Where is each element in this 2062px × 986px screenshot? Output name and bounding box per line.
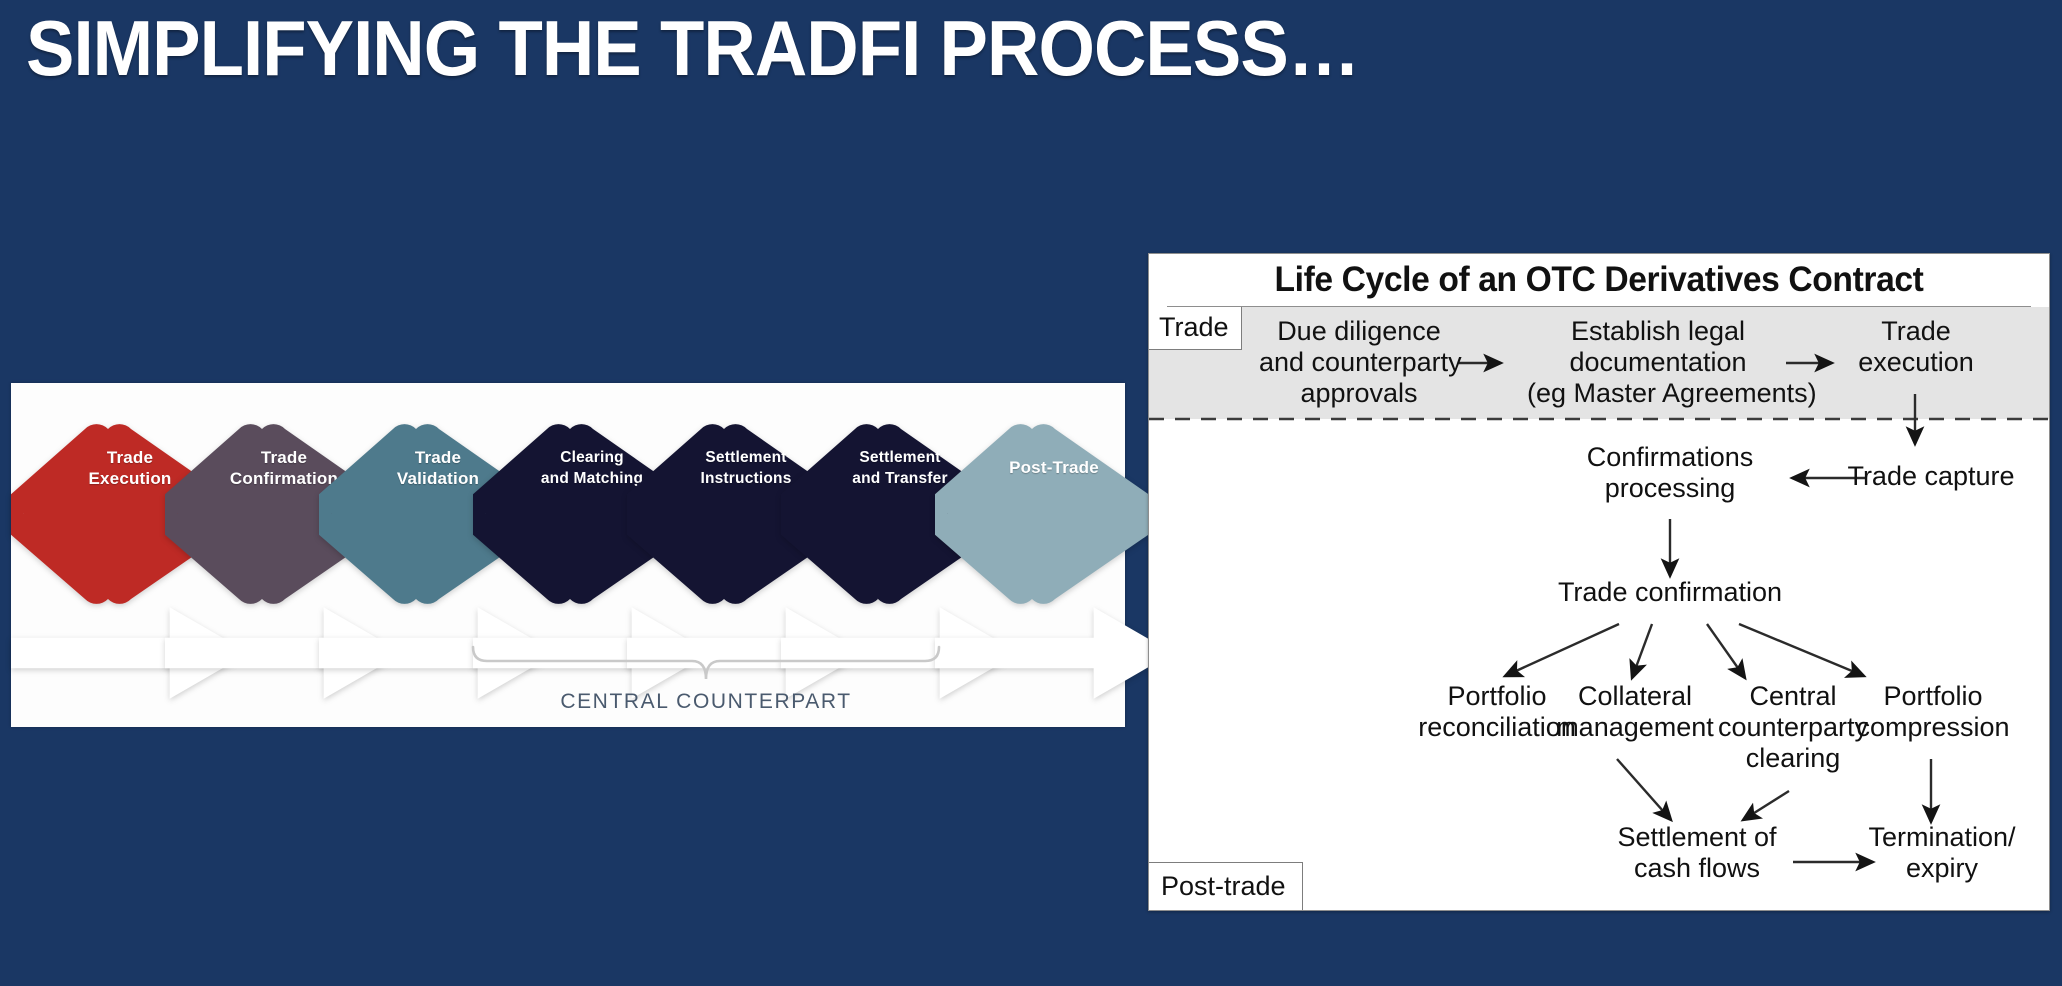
otc-node-trade-confirmation: Trade confirmation [1537,577,1803,608]
otc-node-portfolio-compression: Portfolio compression [1825,681,2041,743]
otc-panel-title: Life Cycle of an OTC Derivatives Contrac… [1167,254,2031,307]
process-step-post-trade[interactable]: Post-Trade [935,395,1173,633]
otc-node-due-diligence: Due diligence and counterparty approvals [1259,316,1459,409]
page-title: SIMPLIFYING THE TRADFI PROCESS… [26,6,1359,90]
central-counterpart-caption: CENTRAL COUNTERPART [471,690,941,714]
otc-node-trade-execution: Trade execution [1849,316,1983,378]
trade-phase-tag: Trade [1149,307,1242,350]
otc-node-trade-capture: Trade capture [1833,461,2029,492]
otc-node-establish-legal: Establish legal documentation (eg Master… [1527,316,1789,409]
otc-node-termination-expiry: Termination/ expiry [1847,822,2037,884]
chevron-step-row: TradeExecution TradeConfirmation TradeVa… [11,383,1125,645]
curly-brace-icon [471,645,941,683]
otc-lifecycle-panel: Life Cycle of an OTC Derivatives Contrac… [1148,253,2050,911]
post-trade-phase-tag: Post-trade [1149,862,1303,910]
otc-node-confirmations-processing: Confirmations processing [1567,442,1773,504]
otc-node-settlement-cash-flows: Settlement of cash flows [1599,822,1795,884]
chevron-shape-icon [935,395,1173,633]
